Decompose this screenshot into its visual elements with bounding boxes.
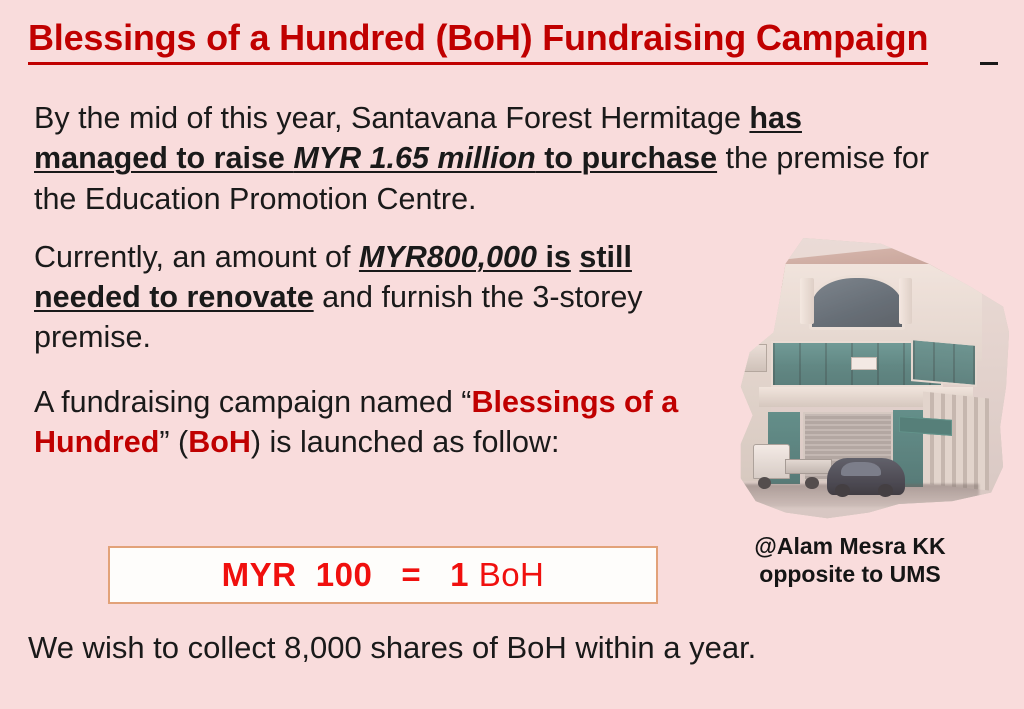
p2-segment-is: is: [537, 240, 571, 274]
premise-photo-figure: [714, 238, 1012, 524]
p3-segment-tail: ) is launched as follow:: [251, 425, 560, 459]
photo-white-lorry: [753, 444, 830, 490]
car-windows: [841, 462, 881, 476]
photo-arched-window: [809, 275, 904, 330]
p2-segment-lead: Currently, an amount of: [34, 240, 359, 274]
photo-neighbouring-shoplots: [923, 392, 989, 490]
photo-air-conditioner: [744, 344, 767, 372]
lorry-wheel-rear: [805, 477, 818, 489]
title-underline-tail: [980, 62, 998, 65]
photo-side-glazing: [911, 338, 977, 387]
paragraph-campaign-name: A fundraising campaign named “Blessings …: [34, 382, 694, 463]
eq-share-count: 1: [450, 556, 469, 593]
p3-quote-close: ”: [159, 425, 169, 459]
photo-column-left: [800, 278, 813, 324]
p1-segment-lead: By the mid of this year, Santavana Fores…: [34, 101, 749, 135]
p1-segment-purchase: to purchase: [536, 141, 717, 175]
photo-caption: @Alam Mesra KK opposite to UMS: [700, 532, 1000, 588]
collection-goal-line: We wish to collect 8,000 shares of BoH w…: [28, 630, 756, 666]
photo-column-right: [899, 278, 912, 324]
p3-segment-lead: A fundraising campaign named: [34, 385, 461, 419]
lorry-wheel-front: [758, 477, 771, 489]
p3-campaign-abbrev: BoH: [188, 425, 251, 459]
slide-root: Blessings of a Hundred (BoH) Fundraising…: [0, 0, 1024, 709]
eq-amount: 100: [316, 556, 373, 593]
paragraph-funds-raised: By the mid of this year, Santavana Fores…: [34, 98, 939, 219]
photo-caption-line-2: opposite to UMS: [700, 560, 1000, 588]
lorry-cab: [753, 444, 790, 479]
lorry-bed: [785, 459, 832, 474]
eq-share-unit: BoH: [479, 556, 545, 593]
photo-signboard: [851, 357, 877, 370]
paragraph-funds-needed: Currently, an amount of MYR800,000 is st…: [34, 237, 734, 358]
photo-dark-car: [827, 458, 904, 495]
conversion-rate-text: MYR 100 = 1 BoH: [222, 556, 545, 594]
p1-segment-amount: MYR 1.65 million: [293, 141, 535, 175]
eq-equals-sign: =: [401, 556, 421, 593]
photo-caption-line-1: @Alam Mesra KK: [700, 532, 1000, 560]
premise-photo: [714, 238, 1012, 524]
p3-quote-open: “: [461, 385, 471, 419]
p3-segment-paren-open: (: [170, 425, 189, 459]
eq-currency: MYR: [222, 556, 297, 593]
conversion-rate-box: MYR 100 = 1 BoH: [108, 546, 658, 604]
car-wheel-front: [835, 484, 850, 497]
car-wheel-rear: [878, 484, 893, 497]
title-block: Blessings of a Hundred (BoH) Fundraising…: [28, 18, 1008, 65]
p2-segment-amount: MYR800,000: [359, 240, 537, 274]
page-title: Blessings of a Hundred (BoH) Fundraising…: [28, 18, 928, 65]
